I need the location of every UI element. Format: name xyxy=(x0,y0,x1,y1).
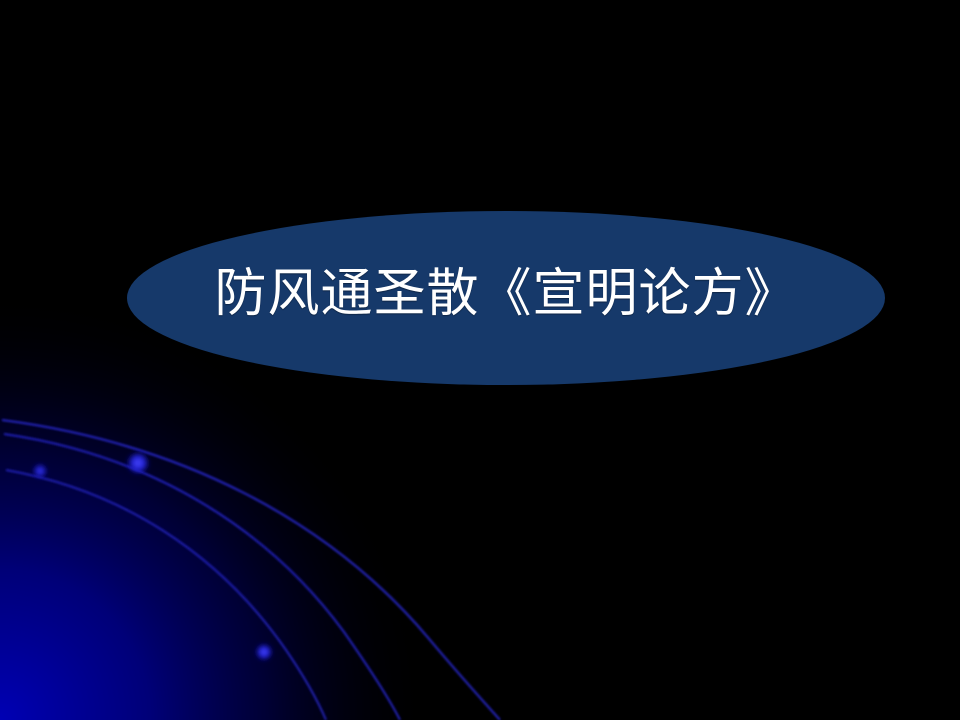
decorative-arc-3 xyxy=(6,470,326,720)
slide-canvas: 防风通圣散《宣明论方》 xyxy=(0,0,960,720)
slide-title: 防风通圣散《宣明论方》 xyxy=(214,268,797,329)
decorative-dot-small xyxy=(32,463,48,479)
decorative-dot-lower xyxy=(255,643,273,661)
decorative-arc-1 xyxy=(2,420,500,720)
decorative-arc-2 xyxy=(4,434,400,720)
title-shape: 防风通圣散《宣明论方》 xyxy=(127,211,885,385)
decorative-dot-large xyxy=(126,451,150,475)
title-text-layer: 防风通圣散《宣明论方》 xyxy=(127,211,885,385)
